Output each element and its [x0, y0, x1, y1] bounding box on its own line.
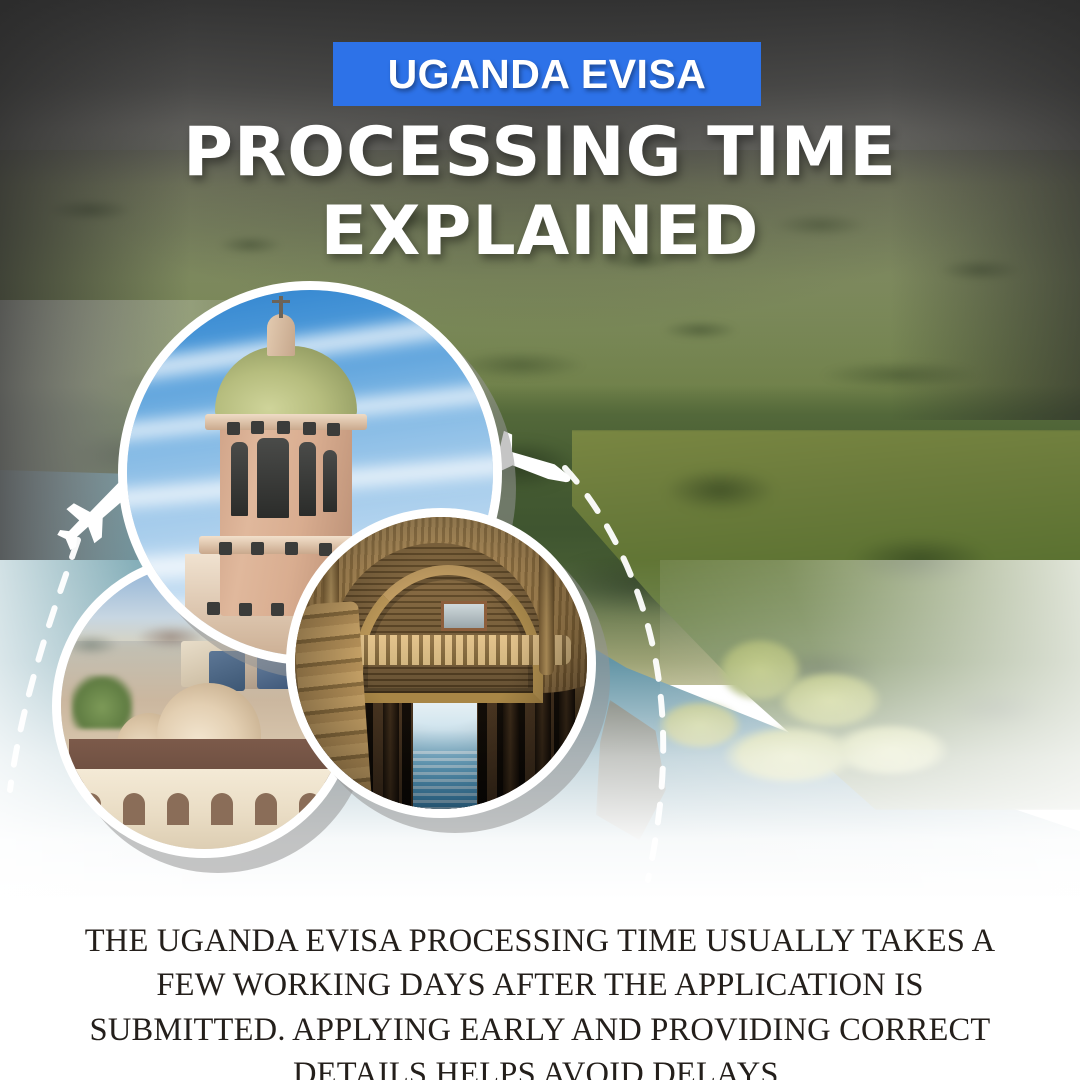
thatched-hut-interior-photo [295, 517, 587, 809]
photo-circle-hut [286, 508, 596, 818]
caption-text: THE UGANDA EVISA PROCESSING TIME USUALLY… [62, 919, 1018, 1080]
poster-canvas: UGANDA EVISA PROCESSING TIME EXPLAINED [0, 0, 1080, 1080]
